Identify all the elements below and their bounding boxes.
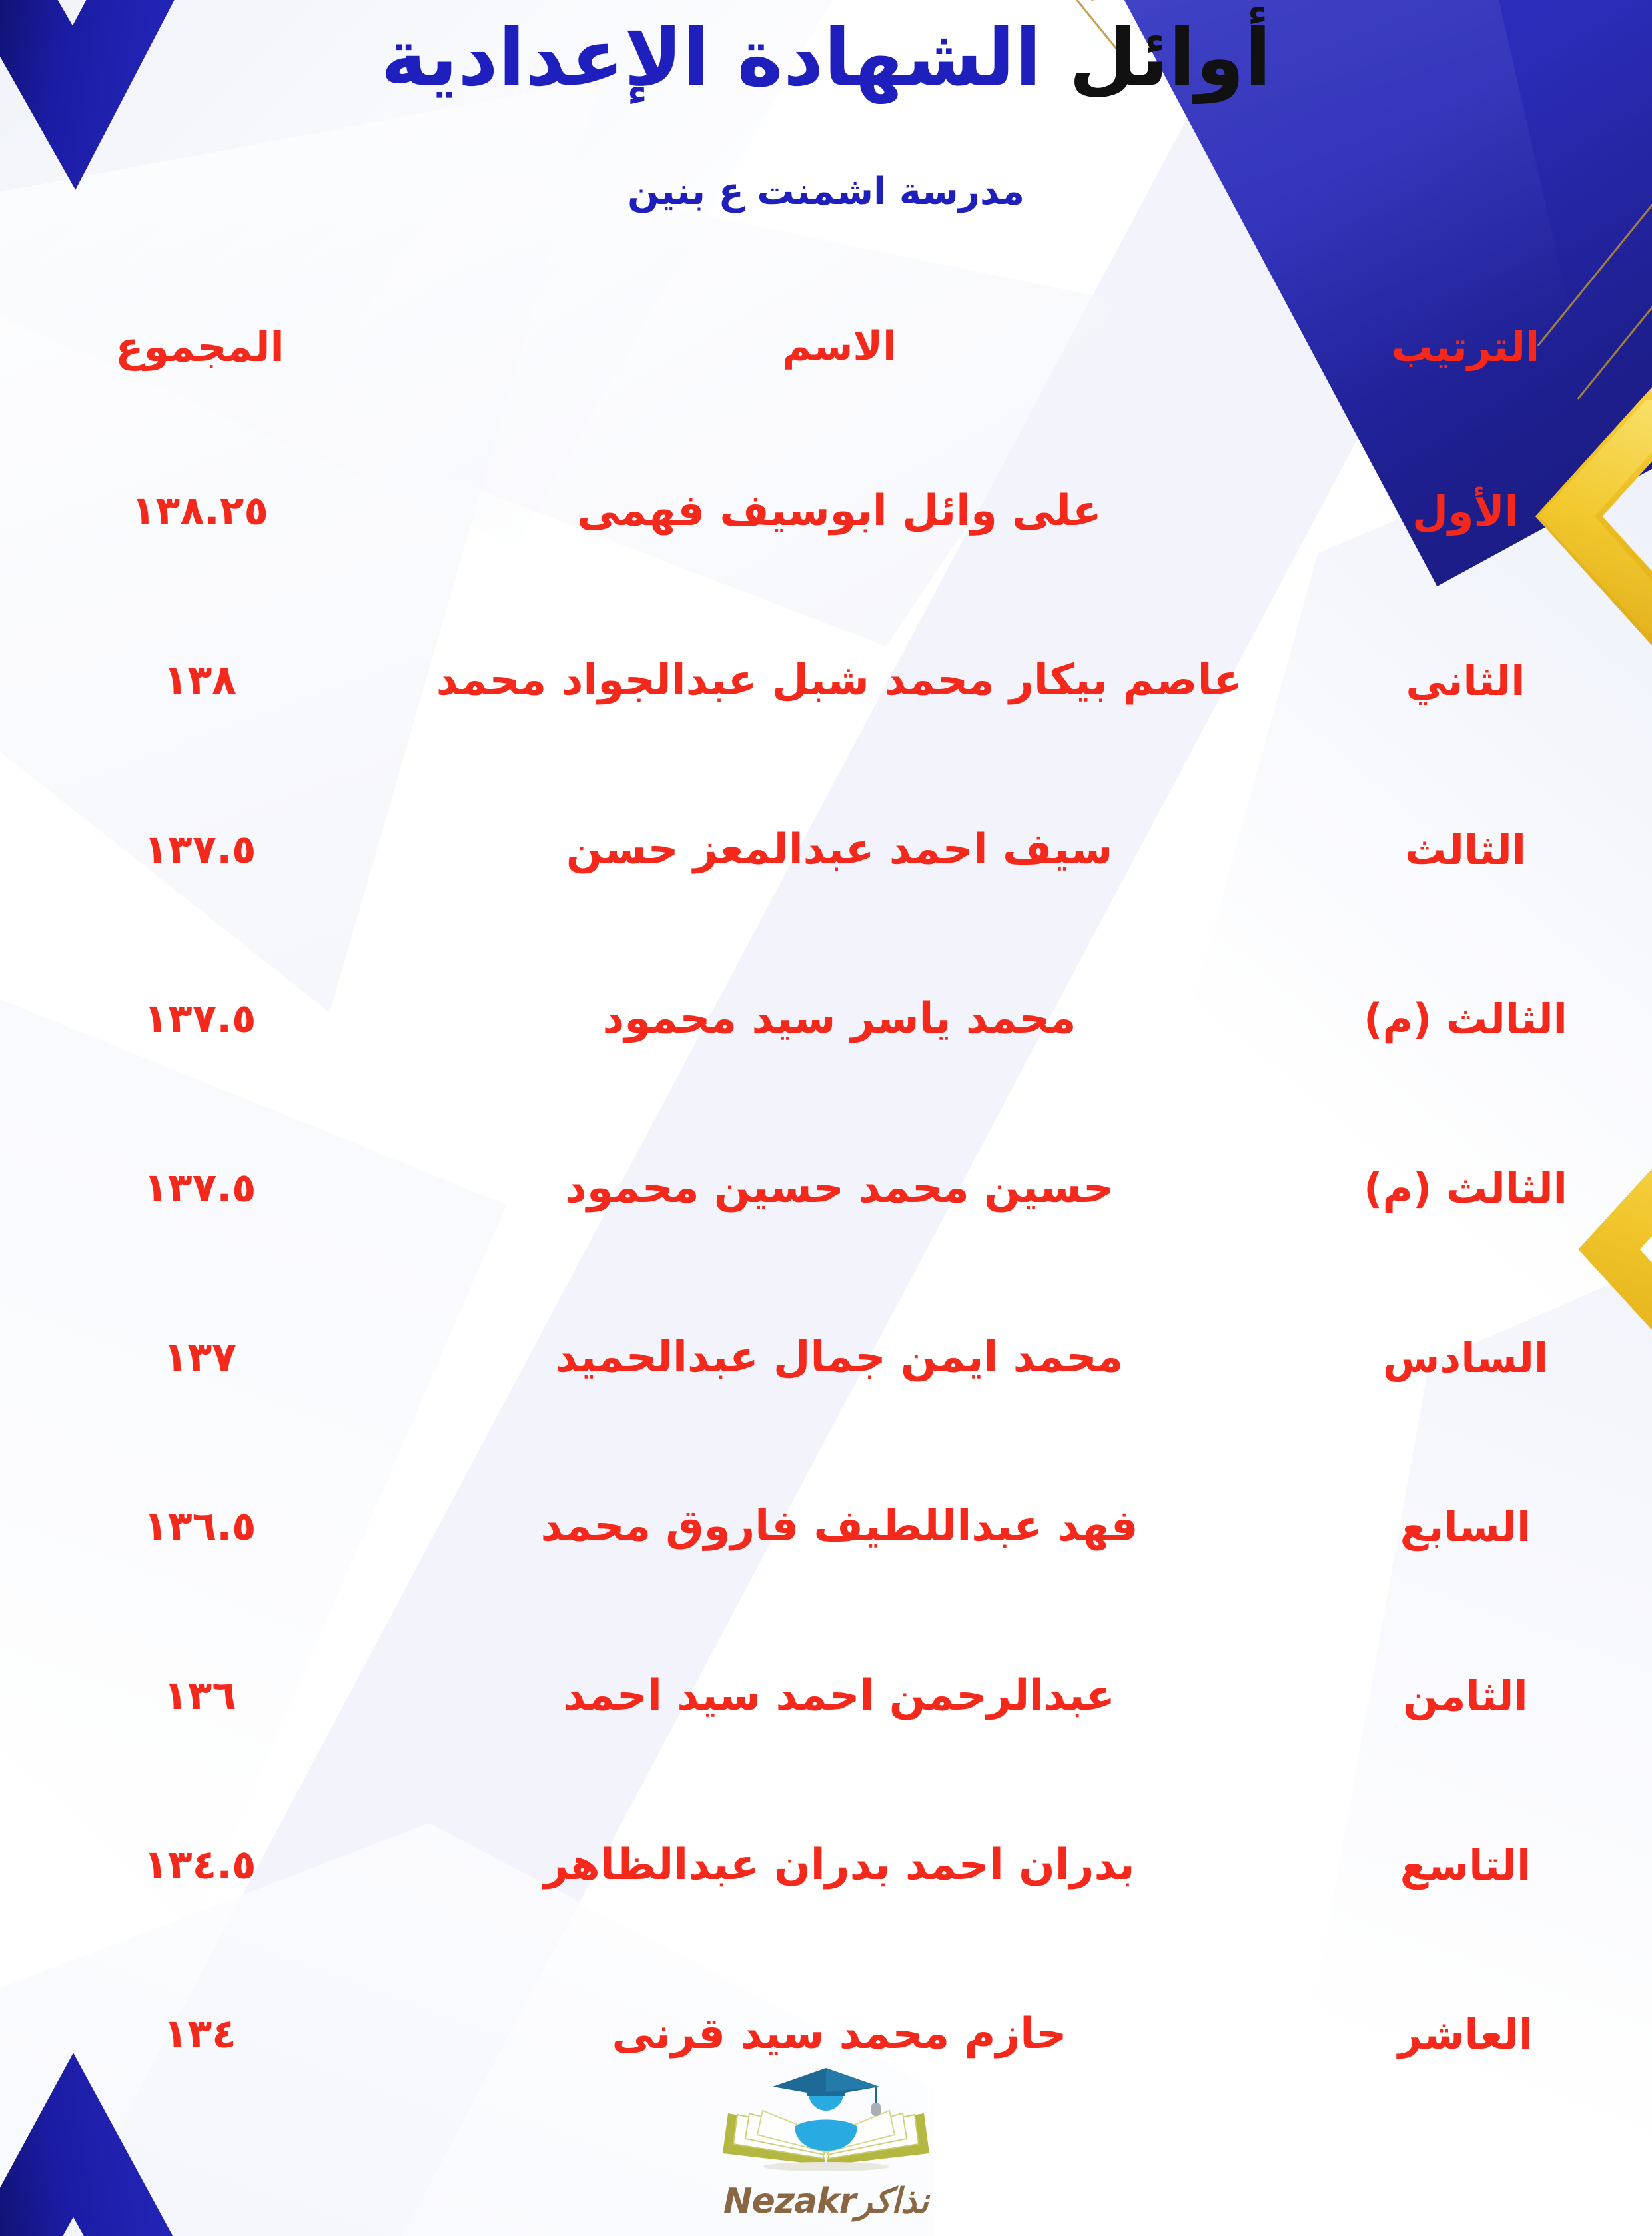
column-header-total: المجموع <box>0 322 400 371</box>
cell-total: ١٣٨ <box>0 657 400 704</box>
cell-total: ١٣٤ <box>0 2011 400 2057</box>
column-header-rank: الترتيب <box>1279 322 1652 371</box>
cell-rank: الثالث (م) <box>1279 995 1652 1043</box>
cell-rank: الأول <box>1279 487 1652 536</box>
cell-name: محمد ياسر سيد محمود <box>400 994 1279 1043</box>
cell-name: سيف احمد عبدالمعز حسن <box>400 825 1279 874</box>
page-title-highlight: أوائل <box>1069 11 1272 103</box>
gold-pinstripe-1 <box>731 0 1094 1</box>
table-row: الأول على وائل ابوسيف فهمى ١٣٨.٢٥ <box>0 426 1652 596</box>
brand-name-arabic: نذاكر <box>855 2181 929 2221</box>
cell-rank: الثاني <box>1279 656 1652 705</box>
cell-total: ١٣٧.٥ <box>0 995 400 1042</box>
table-row: الثاني عاصم بيكار محمد شبل عبدالجواد محم… <box>0 596 1652 765</box>
cell-name: على وائل ابوسيف فهمى <box>400 486 1279 536</box>
brand-logo-text: نذاكرNezakr <box>686 2181 966 2221</box>
cell-name: حازم محمد سيد قرنى <box>400 2009 1279 2059</box>
cell-name: عاصم بيكار محمد شبل عبدالجواد محمد <box>400 656 1279 705</box>
page-title: أوائل الشهادة الإعدادية <box>0 13 1652 101</box>
table-row: السادس محمد ايمن جمال عبدالحميد ١٣٧ <box>0 1273 1652 1442</box>
cell-rank: العاشر <box>1279 2010 1652 2059</box>
cell-rank: الثالث <box>1279 826 1652 874</box>
brand-logo: نذاكرNezakr <box>686 2065 966 2221</box>
cell-total: ١٣٧ <box>0 1334 400 1381</box>
cell-name: فهد عبداللطيف فاروق محمد <box>400 1502 1279 1551</box>
brand-name-latin: Nezakr <box>723 2181 855 2221</box>
cell-name: بدران احمد بدران عبدالظاهر <box>400 1840 1279 1890</box>
cell-total: ١٣٦ <box>0 1672 400 1719</box>
poster-page: أوائل الشهادة الإعدادية مدرسة اشمنت ع بن… <box>0 0 1652 2236</box>
graduate-book-icon <box>716 2065 936 2185</box>
table-row: الثالث (م) حسين محمد حسين محمود ١٣٧.٥ <box>0 1103 1652 1273</box>
cell-rank: الثالث (م) <box>1279 1164 1652 1213</box>
cell-total: ١٣٤.٥ <box>0 1842 400 1888</box>
column-header-name: الاسم <box>400 323 1279 370</box>
cell-rank: السادس <box>1279 1333 1652 1382</box>
cell-rank: الثامن <box>1279 1672 1652 1720</box>
page-title-main: الشهادة الإعدادية <box>380 11 1041 103</box>
cell-total: ١٣٧.٥ <box>0 826 400 873</box>
cell-name: عبدالرحمن احمد سيد احمد <box>400 1671 1279 1720</box>
honor-roll-table: الترتيب الاسم المجموع الأول على وائل ابو… <box>0 267 1652 2119</box>
cell-total: ١٣٦.٥ <box>0 1503 400 1550</box>
table-row: الثالث سيف احمد عبدالمعز حسن ١٣٧.٥ <box>0 765 1652 934</box>
table-header-row: الترتيب الاسم المجموع <box>0 267 1652 426</box>
cell-total: ١٣٨.٢٥ <box>0 488 400 534</box>
cell-rank: التاسع <box>1279 1841 1652 1890</box>
cell-rank: السابع <box>1279 1502 1652 1551</box>
table-row: الثامن عبدالرحمن احمد سيد احمد ١٣٦ <box>0 1611 1652 1780</box>
table-row: التاسع بدران احمد بدران عبدالظاهر ١٣٤.٥ <box>0 1780 1652 1950</box>
cell-name: محمد ايمن جمال عبدالحميد <box>400 1333 1279 1382</box>
page-header: أوائل الشهادة الإعدادية <box>0 13 1652 101</box>
table-row: السابع فهد عبداللطيف فاروق محمد ١٣٦.٥ <box>0 1442 1652 1611</box>
table-row: الثالث (م) محمد ياسر سيد محمود ١٣٧.٥ <box>0 934 1652 1103</box>
cell-name: حسين محمد حسين محمود <box>400 1163 1279 1213</box>
cell-total: ١٣٧.٥ <box>0 1165 400 1211</box>
page-subtitle: مدرسة اشمنت ع بنين <box>0 170 1652 213</box>
